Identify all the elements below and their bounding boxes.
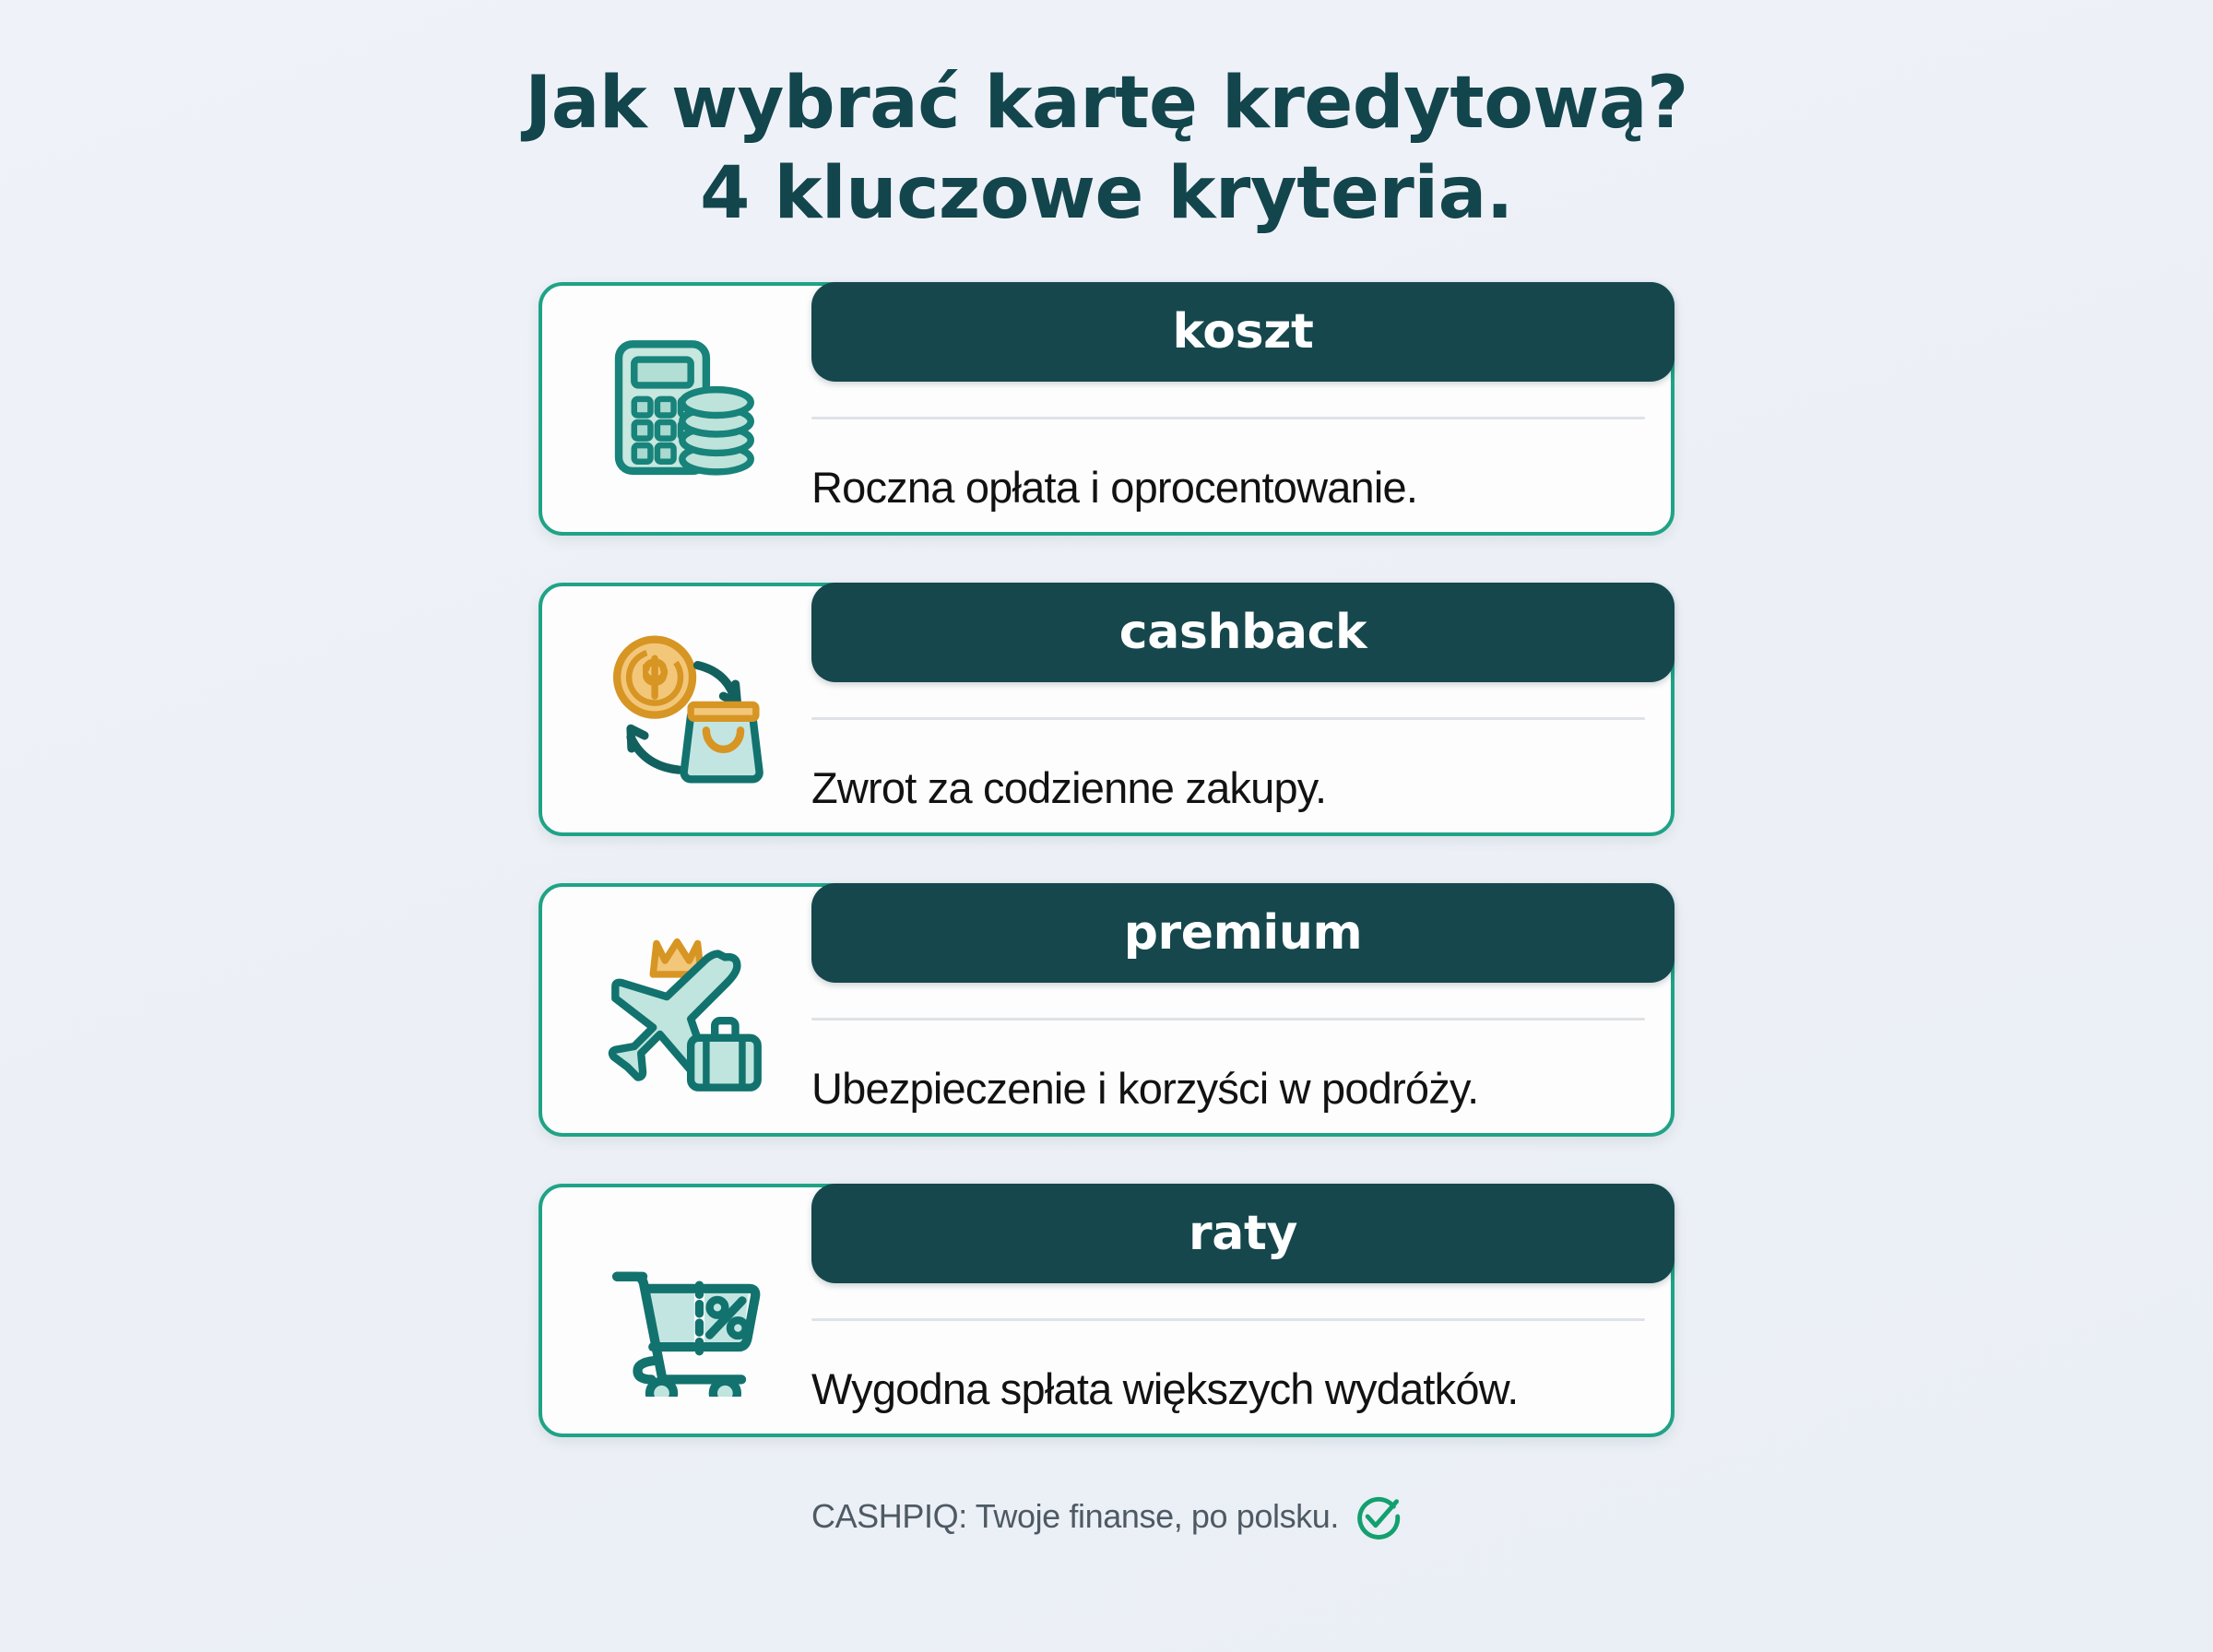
- card-description: Roczna opłata i oprocentowanie.: [811, 441, 1652, 533]
- title-line-1: Jak wybrać kartę kredytową?: [525, 63, 1687, 144]
- card-header-bar: koszt: [811, 282, 1675, 382]
- card-divider: [811, 417, 1645, 419]
- card-description: Wygodna spłata większych wydatków.: [811, 1342, 1652, 1434]
- card-divider: [811, 1318, 1645, 1321]
- card-label: premium: [1124, 909, 1363, 957]
- page-title: Jak wybrać kartę kredytową? 4 kluczowe k…: [525, 63, 1687, 234]
- card-body: koszt Roczna opłata i oprocentowanie.: [811, 286, 1671, 532]
- footer: CASHPIQ: Twoje finanse, po polsku.: [811, 1493, 1402, 1540]
- criteria-card-koszt[interactable]: koszt Roczna opłata i oprocentowanie.: [538, 282, 1675, 536]
- title-line-2: 4 kluczowe kryteria.: [525, 153, 1687, 234]
- airplane-crown-suitcase-icon: [542, 887, 811, 1133]
- card-divider: [811, 1018, 1645, 1021]
- card-label: koszt: [1173, 308, 1314, 356]
- card-body: premium Ubezpieczenie i korzyści w podró…: [811, 887, 1671, 1133]
- card-header-bar: raty: [811, 1184, 1675, 1283]
- card-description: Zwrot za codzienne zakupy.: [811, 741, 1652, 833]
- card-label: raty: [1189, 1209, 1297, 1257]
- card-header-bar: cashback: [811, 583, 1675, 682]
- shopping-cart-percent-icon: [542, 1187, 811, 1434]
- card-body: raty Wygodna spłata większych wydatków.: [811, 1187, 1671, 1434]
- footer-brand-text: CASHPIQ: Twoje finanse, po polsku.: [811, 1497, 1339, 1536]
- coin-shopping-bag-icon: [542, 586, 811, 832]
- card-description: Ubezpieczenie i korzyści w podróży.: [811, 1042, 1652, 1134]
- criteria-card-raty[interactable]: raty Wygodna spłata większych wydatków.: [538, 1184, 1675, 1437]
- criteria-card-list: koszt Roczna opłata i oprocentowanie.: [538, 282, 1675, 1437]
- card-label: cashback: [1119, 608, 1367, 656]
- criteria-card-cashback[interactable]: cashback Zwrot za codzienne zakupy.: [538, 583, 1675, 836]
- calculator-coins-icon: [542, 286, 811, 532]
- card-body: cashback Zwrot za codzienne zakupy.: [811, 586, 1671, 832]
- card-header-bar: premium: [811, 883, 1675, 983]
- criteria-card-premium[interactable]: premium Ubezpieczenie i korzyści w podró…: [538, 883, 1675, 1137]
- card-divider: [811, 717, 1645, 720]
- check-circle-icon: [1354, 1493, 1402, 1540]
- infographic-page: Jak wybrać kartę kredytową? 4 kluczowe k…: [0, 0, 2213, 1652]
